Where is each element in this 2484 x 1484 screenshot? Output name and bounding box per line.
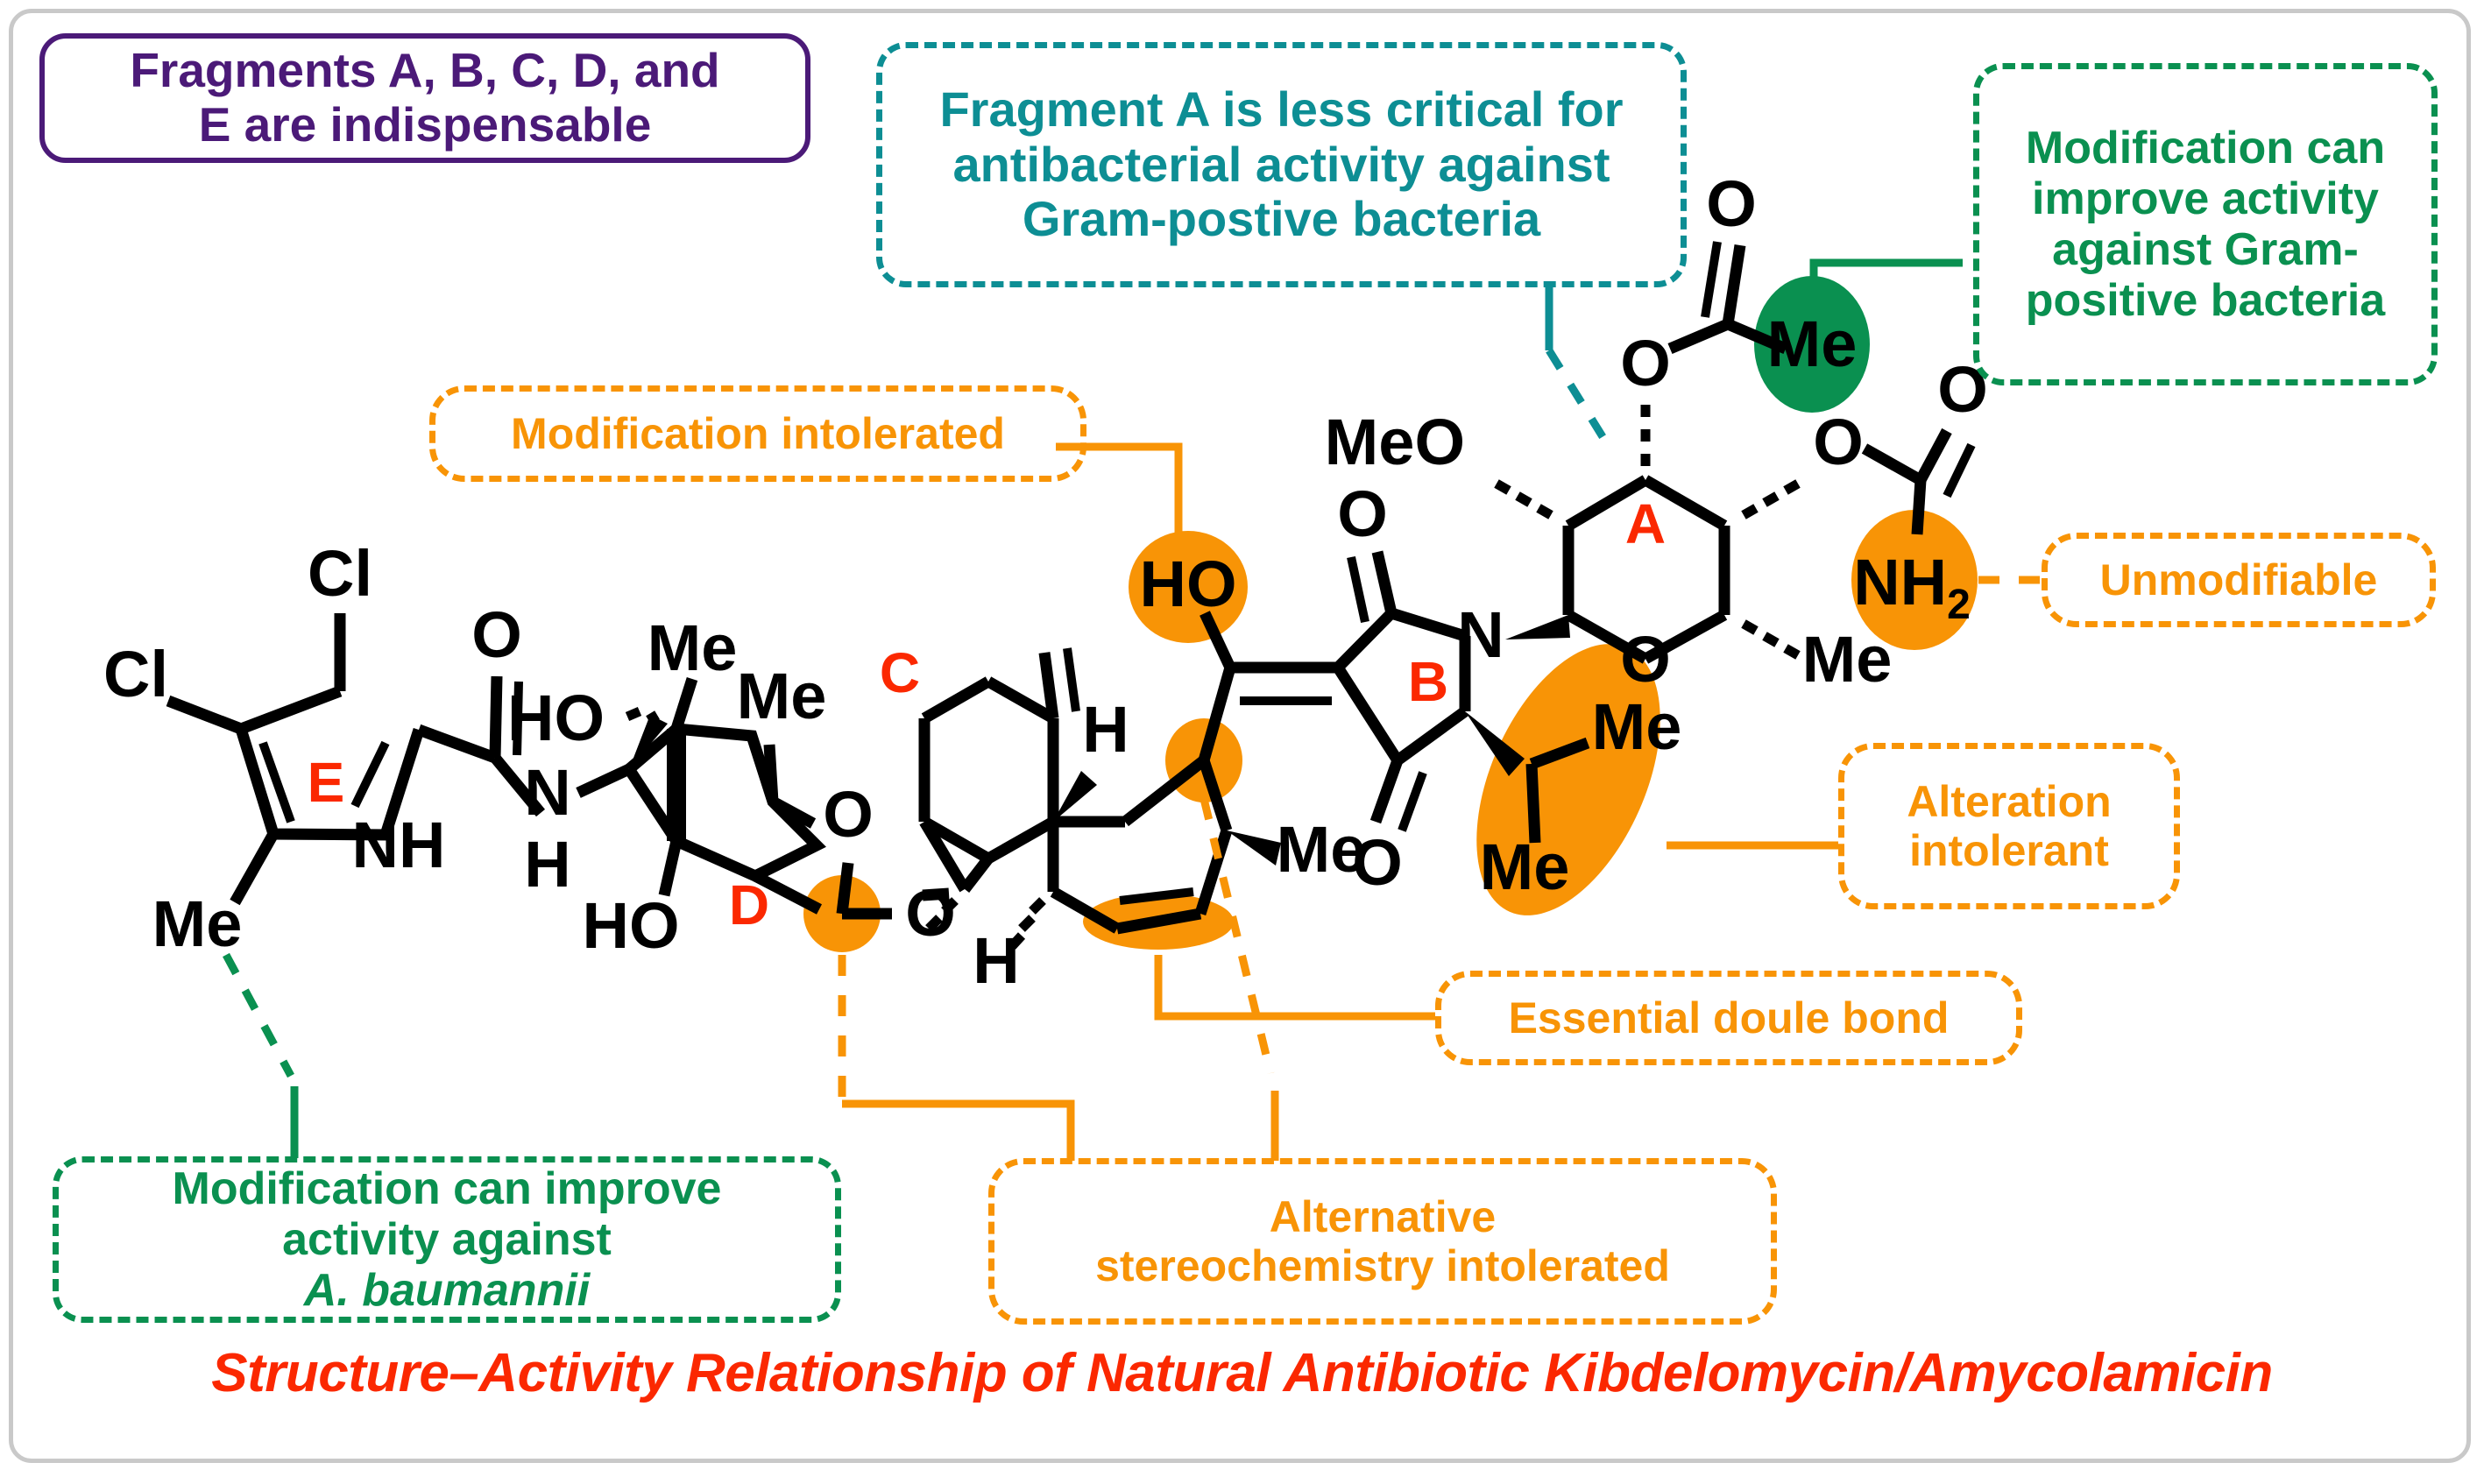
callout-line: improve activity (2032, 173, 2379, 224)
callout-modification-baumannii: Modification can improve activity agains… (53, 1156, 841, 1323)
callout-line: Unmodifiable (2100, 555, 2378, 604)
callout-unmodifiable: Unmodifiable (2042, 533, 2436, 627)
callout-line-text: activity against (282, 1214, 612, 1265)
callout-line: Fragments A, B, C, D, and (130, 44, 719, 98)
callout-fragment-a-less-critical: Fragment A is less critical for antibact… (876, 42, 1687, 287)
callout-essential-double-bond: Essential doule bond (1435, 971, 2022, 1065)
callout-line: Essential doule bond (1509, 993, 1950, 1042)
callout-line: against Gram- (2052, 224, 2359, 275)
callout-line: antibacterial activity against (952, 138, 1610, 193)
callout-alternative-stereochemistry: Alternative stereochemistry intolerated (988, 1158, 1777, 1325)
callout-line: Modification can improve (173, 1163, 722, 1214)
callout-line: Fragment A is less critical for (939, 82, 1623, 138)
callout-line: Modification intolerated (511, 409, 1005, 458)
sar-figure-page: .b{stroke:#000;stroke-width:13;fill:none… (0, 0, 2484, 1484)
callout-line: positive bacteria (2026, 275, 2385, 326)
callout-line: Modification can (2026, 123, 2385, 173)
callout-line: E are indispensable (199, 98, 652, 152)
callout-line: stereochemistry intolerated (1095, 1241, 1670, 1290)
callout-line-italic: activity against A. baumannii (282, 1214, 612, 1316)
callout-line: Gram-postive bacteria (1023, 192, 1540, 247)
callout-modification-intolerated: Modification intolerated (429, 385, 1086, 482)
figure-title: Structure–Activity Relationship of Natur… (0, 1342, 2484, 1404)
callout-modification-gram-positive: Modification can improve activity agains… (1973, 63, 2438, 385)
callout-fragments-indispensable: Fragments A, B, C, D, and E are indispen… (39, 33, 810, 163)
callout-line: intolerant (1909, 826, 2109, 875)
species-name: A. baumannii (282, 1265, 612, 1316)
callout-alteration-intolerant: Alteration intolerant (1838, 743, 2180, 909)
callout-line: Alternative (1270, 1192, 1496, 1241)
callout-line: Alteration (1907, 777, 2111, 826)
